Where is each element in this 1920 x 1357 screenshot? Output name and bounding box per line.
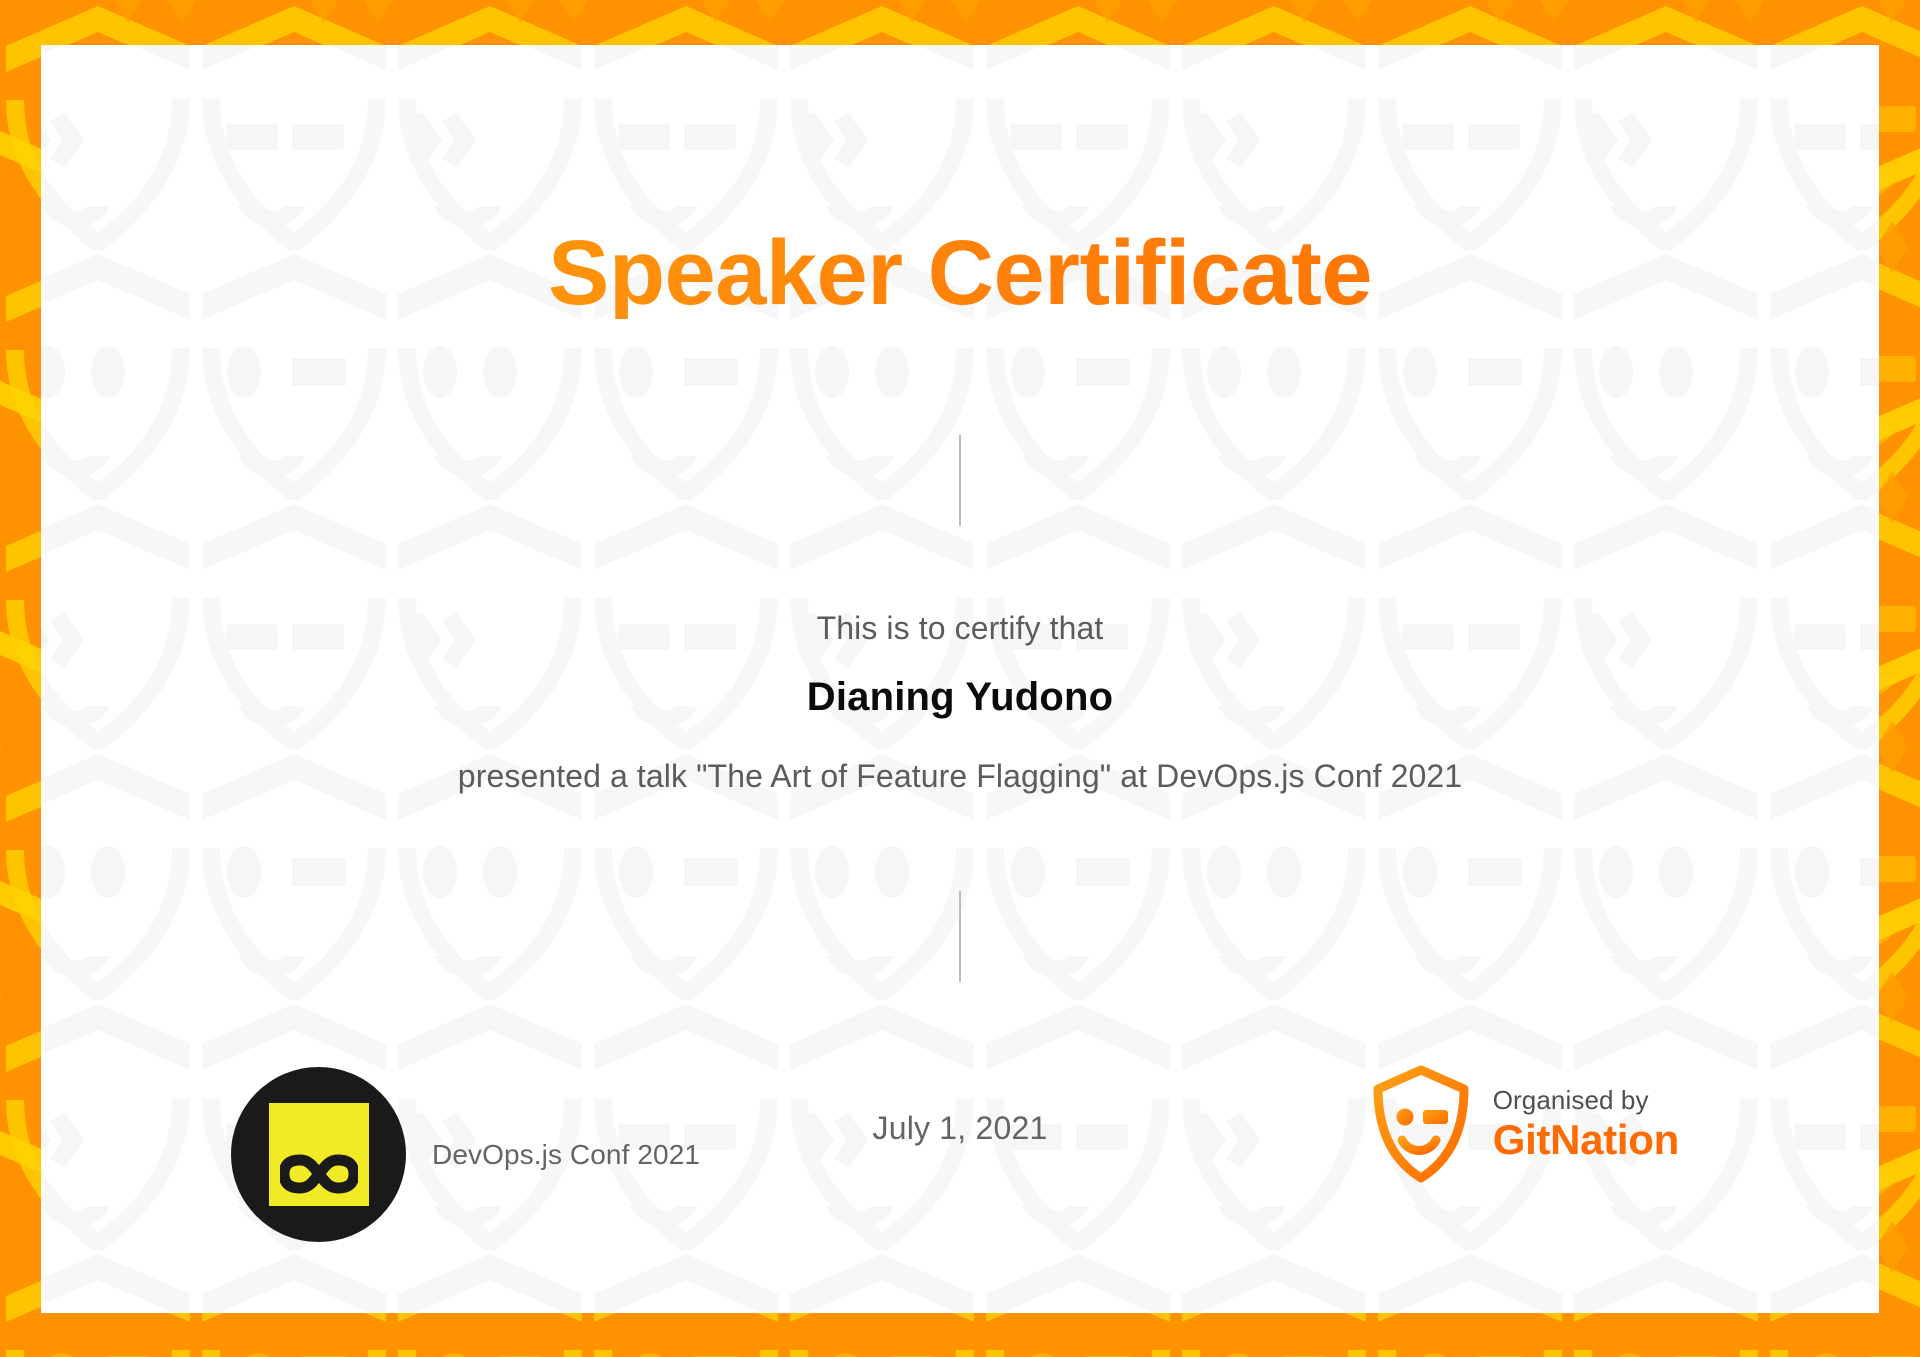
- infinity-icon: [280, 1154, 358, 1194]
- divider-bottom: [959, 891, 961, 982]
- organisation-name: GitNation: [1493, 1118, 1679, 1162]
- recipient-name: Dianing Yudono: [41, 675, 1879, 720]
- gitnation-shield-face-logo-icon: [1371, 1065, 1471, 1183]
- organiser-block: Organised by GitNation: [1371, 1065, 1679, 1183]
- conference-block: DevOps.js Conf 2021: [231, 1067, 700, 1242]
- devops-infinity-logo-icon: [231, 1067, 406, 1242]
- divider-top: [959, 435, 961, 526]
- talk-line: presented a talk "The Art of Feature Fla…: [41, 758, 1879, 795]
- page-title: Speaker Certificate: [41, 227, 1879, 319]
- organised-by-label: Organised by: [1493, 1085, 1679, 1116]
- certificate-card: Speaker Certificate This is to certify t…: [41, 45, 1879, 1313]
- certify-line: This is to certify that: [41, 610, 1879, 647]
- certificate: Speaker Certificate This is to certify t…: [0, 0, 1920, 1357]
